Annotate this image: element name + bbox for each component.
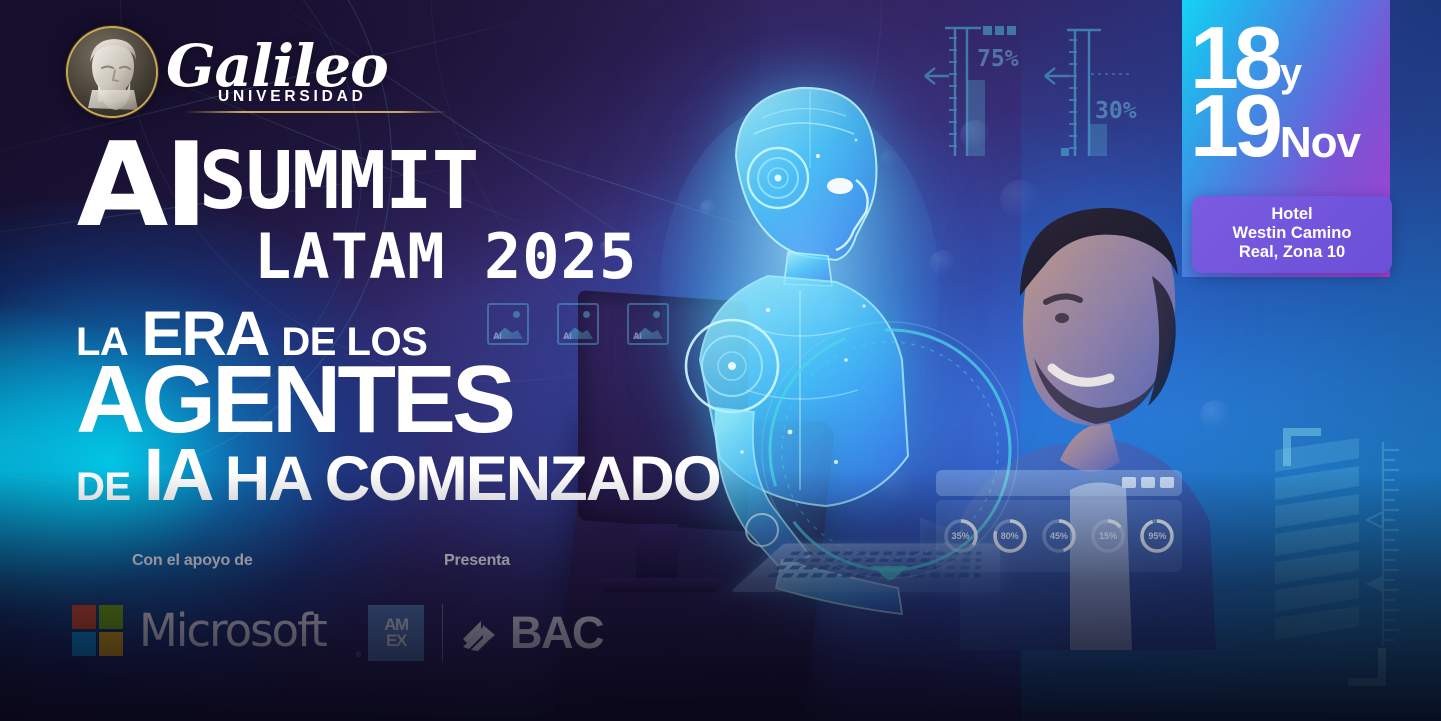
galileo-bust-medallion-icon xyxy=(66,26,158,118)
hud-bar1-value: 75% xyxy=(977,46,1019,72)
event-title: AI SUMMIT LATAM 2025 xyxy=(78,136,637,293)
date-numbers: 18 y 19 Nov xyxy=(1190,22,1386,162)
venue-line-3: Real, Zona 10 xyxy=(1198,243,1386,262)
title-summit: SUMMIT xyxy=(199,142,478,221)
event-date-panel: 18 y 19 Nov Hotel Westin Camino Real, Zo… xyxy=(1182,0,1390,277)
date-day-2: 19 xyxy=(1190,90,1278,162)
hud-bar2-value: 30% xyxy=(1095,98,1137,124)
galileo-university-logo[interactable]: Galileo UNIVERSIDAD xyxy=(66,26,388,118)
logo-underline xyxy=(184,111,448,113)
background-bottom-fade xyxy=(0,471,1441,721)
university-subtitle: UNIVERSIDAD xyxy=(218,88,388,106)
hud-bar-gauges: 75% 30% xyxy=(905,8,1195,168)
venue-badge: Hotel Westin Camino Real, Zona 10 xyxy=(1192,196,1392,273)
logo-wordmark: Galileo UNIVERSIDAD xyxy=(166,38,388,105)
tagline-agentes: AGENTES xyxy=(76,356,720,444)
venue-line-1: Hotel xyxy=(1198,205,1386,224)
university-name: Galileo xyxy=(166,40,388,93)
date-month: Nov xyxy=(1280,125,1360,161)
venue-line-2: Westin Camino xyxy=(1198,224,1386,243)
title-latam-year: LATAM 2025 xyxy=(254,220,637,293)
title-ai: AI xyxy=(77,136,204,236)
event-banner: 75% 30% Ai Ai Ai 35%80%45%15%95% xyxy=(0,0,1441,721)
date-conjunction: y xyxy=(1280,57,1302,90)
